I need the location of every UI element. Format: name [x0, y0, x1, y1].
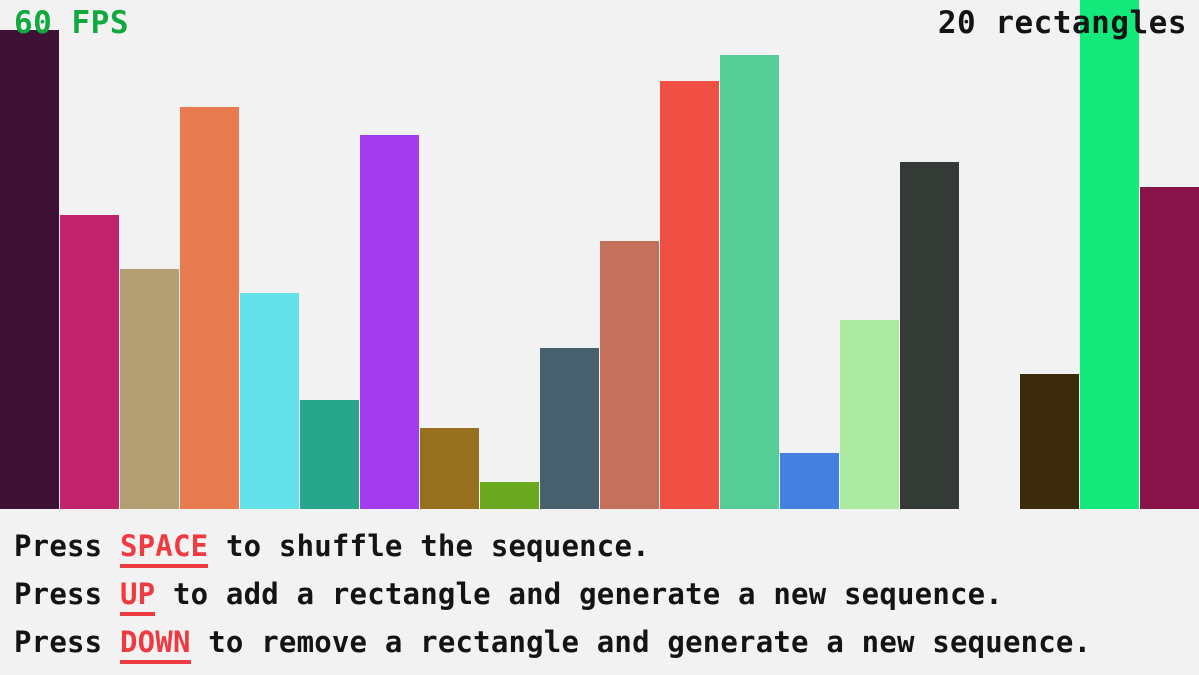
bar-11 — [600, 241, 659, 509]
bar-10 — [540, 348, 599, 509]
bar-7 — [360, 135, 419, 509]
key-down[interactable]: DOWN — [120, 625, 191, 664]
key-up[interactable]: UP — [120, 577, 155, 616]
bar-12 — [660, 81, 719, 509]
bar-1 — [0, 30, 59, 509]
bar-13 — [720, 55, 779, 509]
instruction-suffix: to remove a rectangle and generate a new… — [191, 625, 1092, 659]
bar-19 — [1080, 0, 1139, 509]
bar-9 — [480, 482, 539, 509]
instruction-prefix: Press — [14, 529, 120, 563]
instructions-panel: Press SPACE to shuffle the sequence. Pre… — [0, 509, 1199, 675]
bar-15 — [840, 320, 899, 509]
instruction-line-add: Press UP to add a rectangle and generate… — [14, 570, 1199, 618]
instruction-line-remove: Press DOWN to remove a rectangle and gen… — [14, 618, 1199, 666]
instruction-line-shuffle: Press SPACE to shuffle the sequence. — [14, 522, 1199, 570]
bar-6 — [300, 400, 359, 509]
app-root: 60 FPS 20 rectangles Press SPACE to shuf… — [0, 0, 1199, 675]
bar-20 — [1140, 187, 1199, 509]
bar-2 — [60, 215, 119, 509]
instruction-prefix: Press — [14, 577, 120, 611]
bar-18 — [1020, 374, 1079, 509]
bar-4 — [180, 107, 239, 509]
instruction-suffix: to shuffle the sequence. — [208, 529, 650, 563]
fps-counter: 60 FPS — [14, 8, 129, 39]
key-space[interactable]: SPACE — [120, 529, 208, 568]
instruction-prefix: Press — [14, 625, 120, 659]
bar-8 — [420, 428, 479, 509]
bar-14 — [780, 453, 839, 509]
bar-chart-canvas[interactable] — [0, 0, 1199, 509]
rectangle-count-label: 20 rectangles — [938, 8, 1187, 39]
bar-16 — [900, 162, 959, 509]
bar-3 — [120, 269, 179, 509]
instruction-suffix: to add a rectangle and generate a new se… — [155, 577, 1003, 611]
bar-5 — [240, 293, 299, 509]
